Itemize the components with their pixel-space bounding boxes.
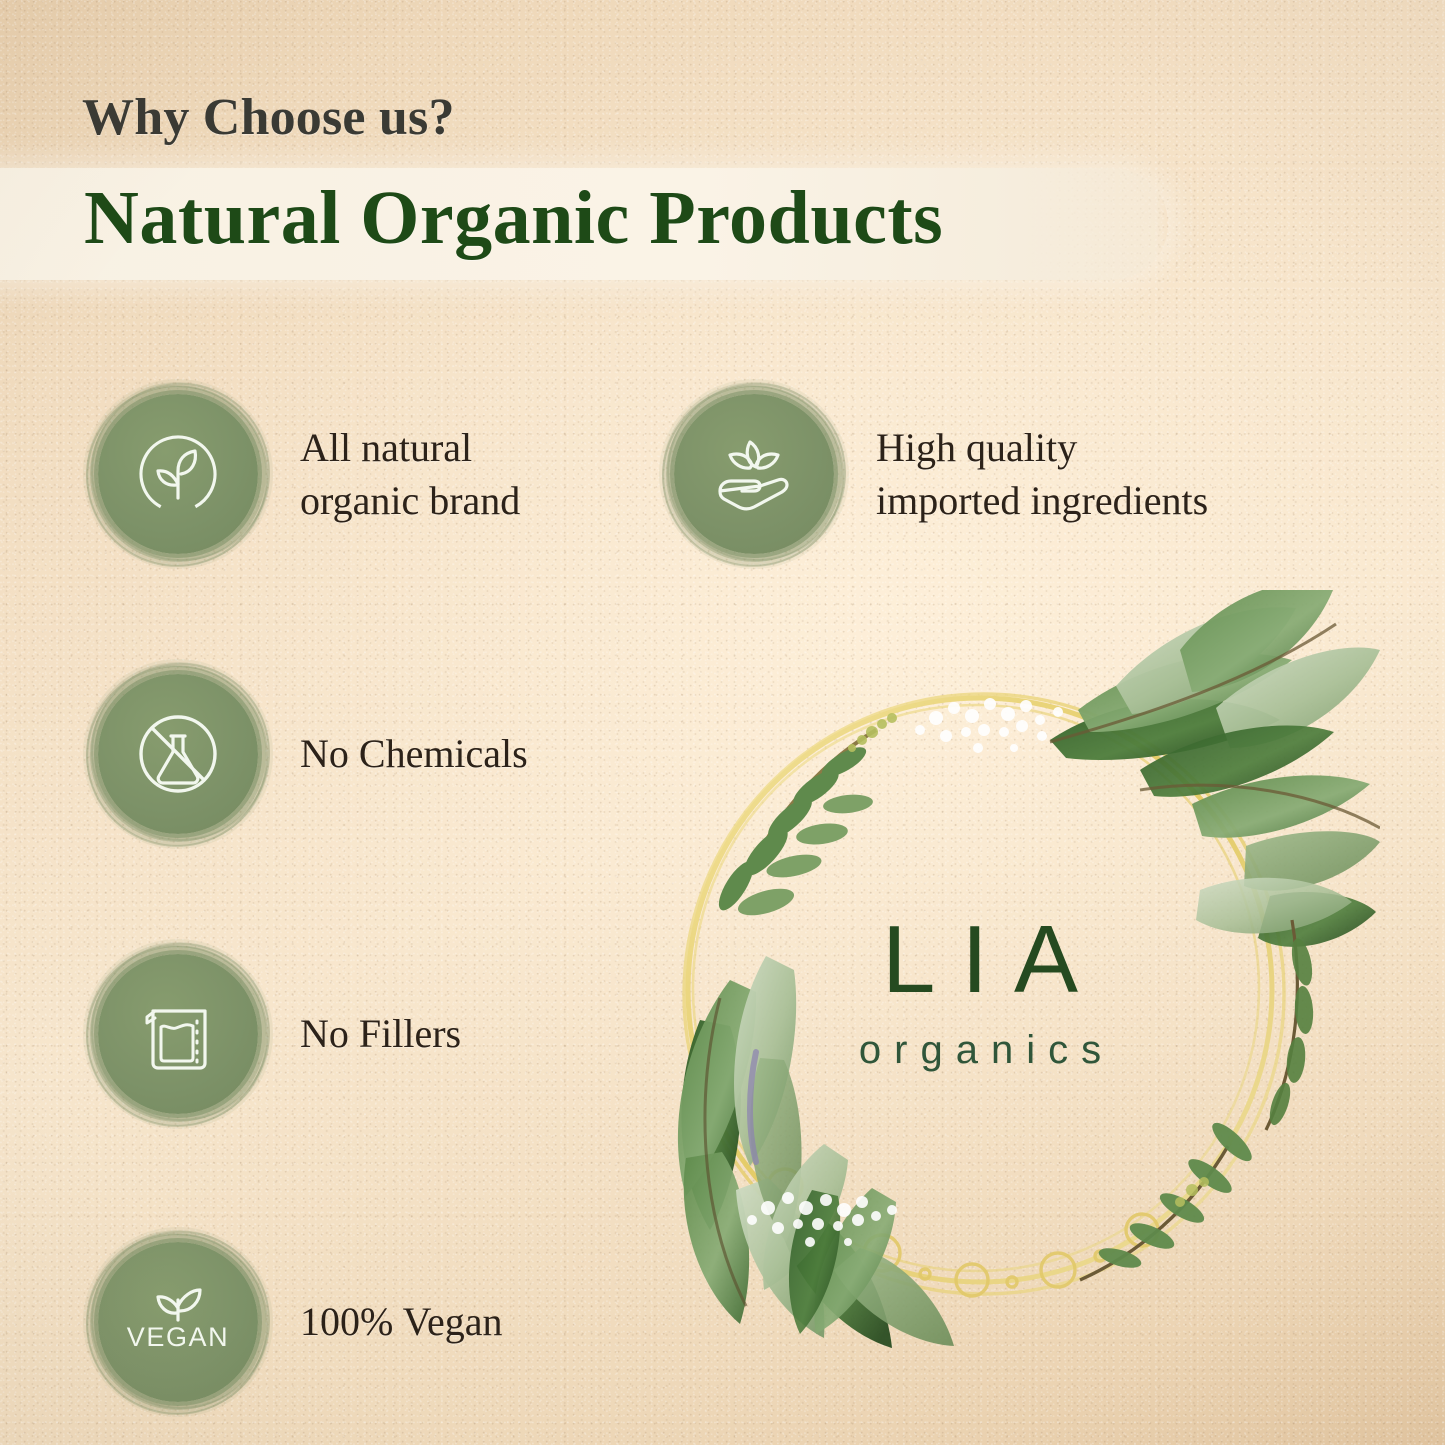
vegan-sprout-icon: VEGAN <box>120 1264 236 1380</box>
feature-item-no-fillers: No Fillers <box>92 948 461 1120</box>
feature-item-vegan: VEGAN 100% Vegan <box>92 1236 503 1408</box>
beaker-icon <box>125 981 231 1087</box>
feature-label: High quality imported ingredients <box>876 421 1208 527</box>
brand-name: LIA <box>580 912 1380 1008</box>
feature-badge <box>92 388 264 560</box>
vegan-badge-label: VEGAN <box>127 1322 230 1352</box>
poster-canvas: Why Choose us? Natural Organic Products … <box>0 0 1445 1445</box>
feature-label: 100% Vegan <box>300 1295 503 1348</box>
feature-item-all-natural: All natural organic brand <box>92 388 520 560</box>
no-chemicals-flask-icon <box>124 700 232 808</box>
seedling-in-circle-icon <box>126 422 230 526</box>
hand-holding-leaves-icon <box>698 418 810 530</box>
feature-label: No Chemicals <box>300 727 528 780</box>
feature-badge <box>92 668 264 840</box>
feature-item-high-quality: High quality imported ingredients <box>668 388 1208 560</box>
eyebrow-text: Why Choose us? <box>82 88 455 147</box>
feature-item-no-chemicals: No Chemicals <box>92 668 528 840</box>
feature-label: No Fillers <box>300 1007 461 1060</box>
feature-label: All natural organic brand <box>300 421 520 527</box>
wreath-leaf-cluster-upper-right <box>1050 590 1380 947</box>
brand-tagline: organics <box>580 1030 1380 1070</box>
feature-badge <box>668 388 840 560</box>
wreath-sprig-lower-right <box>1080 1117 1257 1280</box>
feature-badge <box>92 948 264 1120</box>
page-title: Natural Organic Products <box>84 175 943 262</box>
feature-badge: VEGAN <box>92 1236 264 1408</box>
floral-wreath-logo: LIA organics <box>580 590 1380 1390</box>
